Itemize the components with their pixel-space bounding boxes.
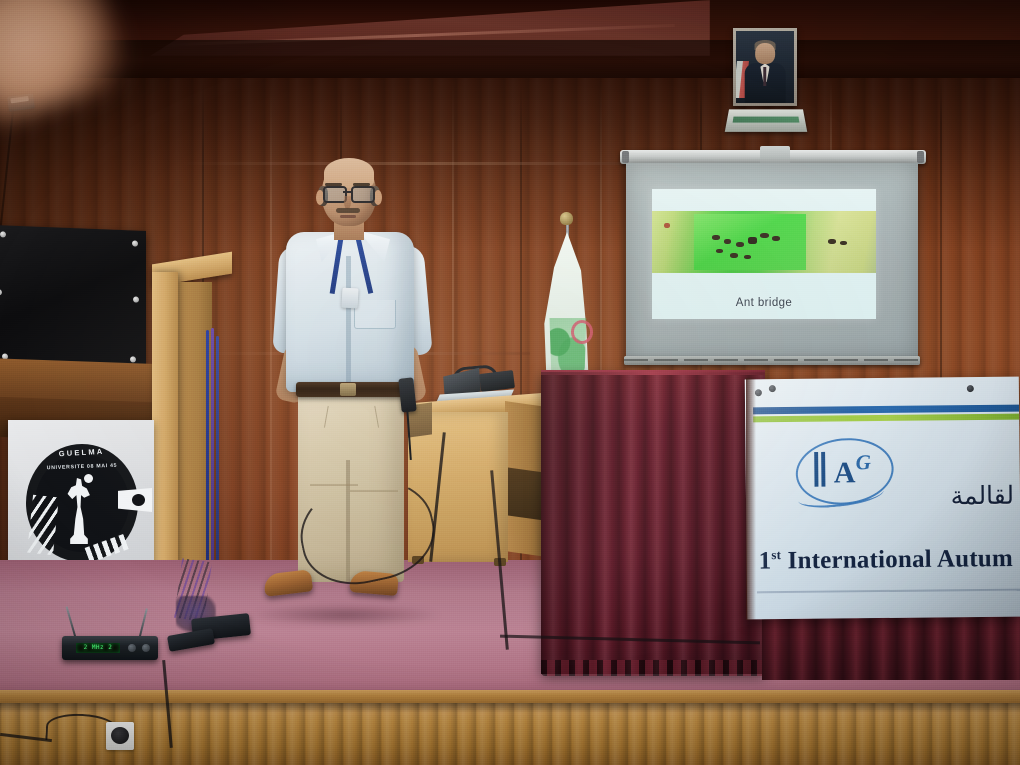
- wall-plaque: [725, 109, 807, 132]
- conference-banner: ǁ A G لقالمة 1st International Autum: [745, 377, 1020, 620]
- name-badge: [341, 288, 358, 309]
- emblem-arc-text: GUELMA: [39, 446, 124, 476]
- burgundy-drape-right-section: [762, 612, 1020, 680]
- screen-bottom-bar: [624, 356, 920, 365]
- receiver-display-text: 2 MHz 2: [76, 643, 120, 653]
- banner-title-main: International Autum: [781, 545, 1013, 574]
- eyeglasses-right-lens: [351, 186, 375, 203]
- burgundy-table-drape: [541, 372, 765, 674]
- power-plug: [111, 727, 129, 744]
- photograph-conference-presentation: Ant bridge GUELMA UNIVERSITE 08 MAI 45: [0, 0, 1020, 765]
- flag-finial: [560, 212, 573, 225]
- banner-blue-stripe: [753, 405, 1019, 415]
- framed-portrait: [733, 28, 797, 106]
- slide-photo-ant-bridge: [652, 211, 876, 273]
- left-shoe: [263, 569, 313, 597]
- wireless-microphone-receiver[interactable]: 2 MHz 2: [62, 636, 158, 660]
- slide-caption: Ant bridge: [652, 297, 876, 309]
- banner-title-superscript: st: [771, 547, 781, 562]
- shirt-pocket: [354, 300, 396, 329]
- banner-green-stripe: [753, 414, 1019, 423]
- screen-surface: Ant bridge: [626, 163, 918, 361]
- banner-arabic-text: لقالمة: [834, 481, 1014, 512]
- projection-screen: Ant bridge: [620, 150, 926, 365]
- black-loudspeaker-panel: [0, 225, 146, 369]
- belt-buckle: [340, 383, 356, 396]
- screen-roller-housing[interactable]: [620, 150, 926, 164]
- receiver-display: 2 MHz 2: [76, 643, 120, 653]
- projected-slide: Ant bridge: [652, 189, 876, 319]
- banner-title-prefix: 1: [759, 548, 772, 575]
- banner-title: 1st International Autum: [759, 544, 1020, 575]
